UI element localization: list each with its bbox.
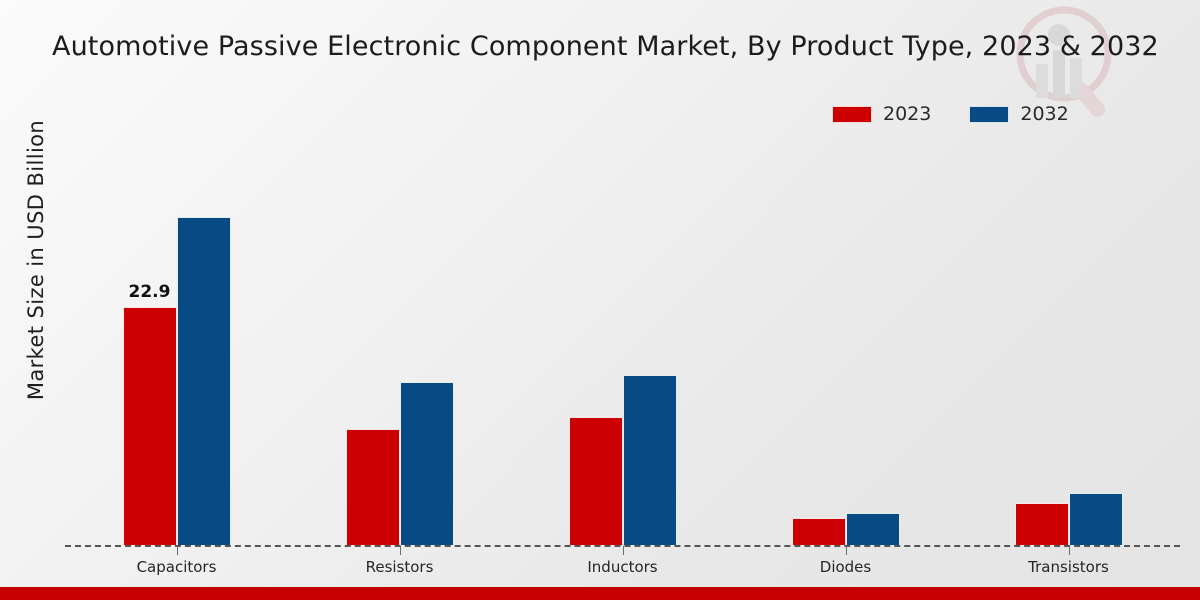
x-axis-label-transistors: Transistors	[1028, 558, 1109, 576]
bar-resistors-2023[interactable]	[346, 429, 400, 546]
legend-swatch-2032	[969, 106, 1009, 123]
footer-accent-bar	[0, 587, 1200, 600]
bar-group: 22.9	[65, 150, 288, 546]
y-axis-title: Market Size in USD Billion	[24, 90, 48, 430]
x-axis-tick	[177, 546, 178, 555]
bar-value-label: 22.9	[129, 282, 171, 302]
legend-label-2032: 2032	[1020, 103, 1068, 125]
x-axis-label-diodes: Diodes	[820, 558, 871, 576]
x-axis-tick	[1069, 546, 1070, 555]
x-axis-tick	[846, 546, 847, 555]
legend-label-2023: 2023	[883, 103, 931, 125]
bar-transistors-2023[interactable]	[1015, 503, 1069, 546]
chart-legend: 2023 2032	[832, 103, 1069, 125]
bar-group	[957, 150, 1180, 546]
bar-capacitors-2023[interactable]: 22.9	[123, 307, 177, 546]
x-axis-label-resistors: Resistors	[366, 558, 434, 576]
x-axis-tick	[400, 546, 401, 555]
bar-group	[511, 150, 734, 546]
x-axis-tick	[623, 546, 624, 555]
plot-area: 22.9	[65, 150, 1180, 546]
bar-inductors-2023[interactable]	[569, 417, 623, 546]
x-axis-label-inductors: Inductors	[587, 558, 657, 576]
bar-diodes-2023[interactable]	[792, 518, 846, 546]
bar-transistors-2032[interactable]	[1069, 493, 1123, 546]
x-axis-label-capacitors: Capacitors	[137, 558, 217, 576]
bar-inductors-2032[interactable]	[623, 375, 677, 546]
chart-container: Automotive Passive Electronic Component …	[0, 0, 1200, 600]
legend-item-2032[interactable]: 2032	[969, 103, 1068, 125]
bar-group	[734, 150, 957, 546]
bar-capacitors-2032[interactable]	[177, 217, 231, 546]
bar-diodes-2032[interactable]	[846, 513, 900, 546]
bar-group	[288, 150, 511, 546]
chart-title: Automotive Passive Electronic Component …	[52, 30, 1172, 65]
legend-item-2023[interactable]: 2023	[832, 103, 931, 125]
legend-swatch-2023	[832, 106, 872, 123]
bar-resistors-2032[interactable]	[400, 382, 454, 546]
